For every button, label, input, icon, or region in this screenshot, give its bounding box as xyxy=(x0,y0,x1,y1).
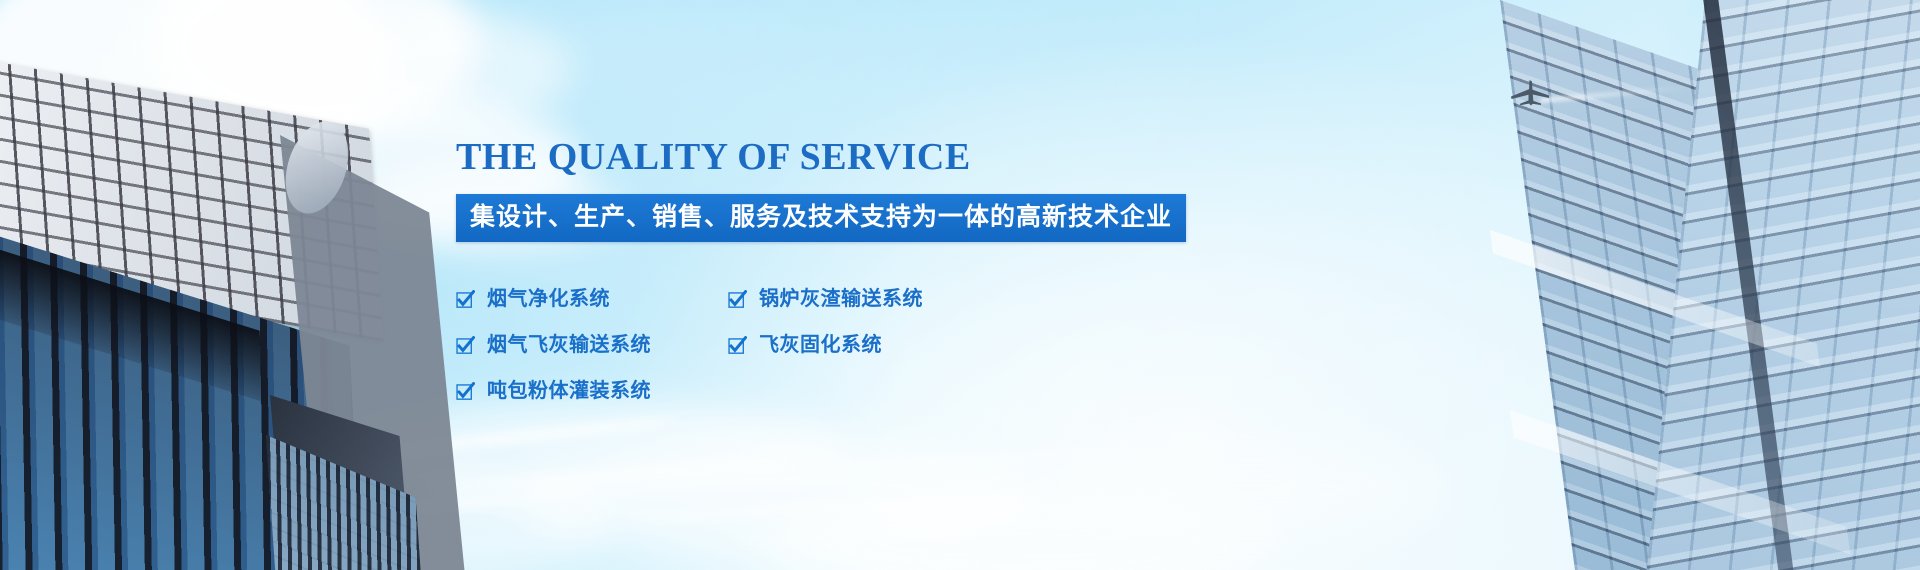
list-item-label: 烟气飞灰输送系统 xyxy=(487,335,651,355)
list-item-label: 烟气净化系统 xyxy=(487,289,610,309)
checkbox-checked-icon xyxy=(728,336,747,355)
list-item-label: 飞灰固化系统 xyxy=(759,335,882,355)
secondary-building-image xyxy=(270,395,460,570)
checkbox-checked-icon xyxy=(456,336,475,355)
list-item[interactable]: 飞灰固化系统 xyxy=(728,335,1216,355)
checkbox-checked-icon xyxy=(456,382,475,401)
list-item-label: 吨包粉体灌装系统 xyxy=(487,381,651,401)
list-item-label: 锅炉灰渣输送系统 xyxy=(759,289,923,309)
airplane-icon xyxy=(1505,78,1551,108)
list-item[interactable]: 吨包粉体灌装系统 xyxy=(456,381,728,401)
checkbox-checked-icon xyxy=(728,290,747,309)
hero-banner: THE QUALITY OF SERVICE 集设计、生产、销售、服务及技术支持… xyxy=(0,0,1920,570)
list-item[interactable]: 锅炉灰渣输送系统 xyxy=(728,289,1216,309)
list-item[interactable]: 烟气飞灰输送系统 xyxy=(456,335,728,355)
checkbox-checked-icon xyxy=(456,290,475,309)
banner-content: THE QUALITY OF SERVICE 集设计、生产、销售、服务及技术支持… xyxy=(456,138,1216,414)
page-title: THE QUALITY OF SERVICE xyxy=(456,138,1216,176)
list-item[interactable]: 烟气净化系统 xyxy=(456,289,728,309)
feature-list: 烟气净化系统 锅炉灰渣输送系统 xyxy=(456,276,1216,414)
right-skyscraper-image xyxy=(1380,0,1920,570)
subtitle-bar: 集设计、生产、销售、服务及技术支持为一体的高新技术企业 xyxy=(456,194,1186,242)
